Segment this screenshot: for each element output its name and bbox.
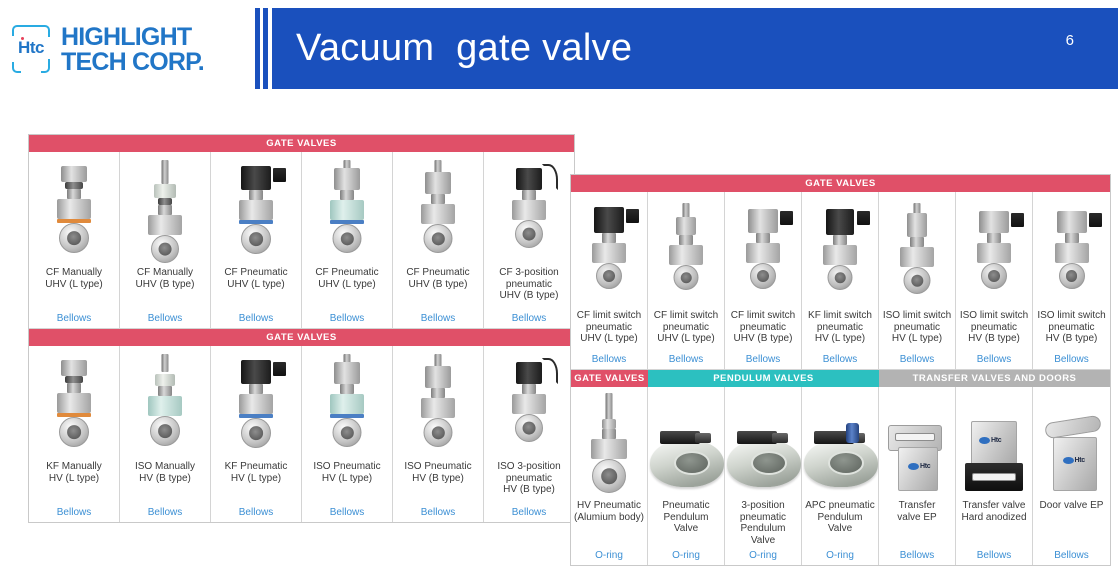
title-bar: Vacuum gate valve 6	[272, 8, 1118, 89]
htc-badge-icon: Htc	[1063, 457, 1085, 464]
product-cell[interactable]: CF Pneumatic UHV (L type)Bellows	[302, 152, 393, 329]
product-cell[interactable]: CF 3-position pneumatic UHV (B type)Bell…	[484, 152, 574, 329]
product-seal-type: Bellows	[57, 309, 91, 328]
catalog-table-left: GATE VALVESCF Manually UHV (L type)Bello…	[28, 134, 575, 523]
product-seal-type: Bellows	[512, 503, 546, 522]
product-seal-type: Bellows	[977, 546, 1011, 565]
product-label: Transfer valve EP	[895, 497, 938, 523]
product-image	[302, 346, 392, 458]
product-image: Htc	[879, 387, 955, 497]
product-seal-type: Bellows	[57, 503, 91, 522]
product-label: Pneumatic Pendulum Valve	[648, 497, 724, 535]
product-cell[interactable]: ISO Manually HV (B type)Bellows	[120, 346, 211, 522]
product-seal-type: Bellows	[512, 309, 546, 328]
product-image	[879, 192, 955, 307]
product-cell[interactable]: KF limit switch pneumatic HV (L type)Bel…	[802, 192, 879, 370]
product-label: Transfer valve Hard anodized	[959, 497, 1028, 523]
product-image	[211, 346, 301, 458]
product-row: CF limit switch pneumatic UHV (L type)Be…	[571, 192, 1110, 370]
product-image	[802, 192, 878, 307]
product-cell[interactable]: APC pneumatic Pendulum ValveO-ring	[802, 387, 879, 565]
product-image	[802, 387, 878, 497]
product-label: ISO limit switch pneumatic HV (B type)	[958, 307, 1030, 345]
valve-illustration	[1041, 203, 1103, 307]
product-image	[29, 152, 119, 264]
product-image	[120, 152, 210, 264]
valve-illustration	[809, 203, 871, 307]
valve-illustration	[225, 354, 287, 458]
product-seal-type: Bellows	[900, 546, 934, 565]
product-cell[interactable]: CF Pneumatic UHV (L type)Bellows	[211, 152, 302, 329]
product-cell[interactable]: KF Pneumatic HV (L type)Bellows	[211, 346, 302, 522]
transfer-valve-illustration: Htc	[884, 413, 950, 497]
product-label: APC pneumatic Pendulum Valve	[802, 497, 878, 535]
product-seal-type: Bellows	[1054, 350, 1088, 369]
product-seal-type: O-ring	[749, 546, 777, 565]
product-cell[interactable]: HtcTransfer valve Hard anodizedBellows	[956, 387, 1033, 565]
product-label: ISO Pneumatic HV (B type)	[402, 458, 473, 484]
logo-mark-text: Htc	[9, 37, 53, 59]
product-image	[648, 387, 724, 497]
product-label: KF Pneumatic HV (L type)	[223, 458, 290, 484]
product-label: CF limit switch pneumatic UHV (B type)	[729, 307, 797, 345]
product-label: CF Pneumatic UHV (L type)	[313, 264, 380, 290]
product-image	[1033, 192, 1110, 307]
product-label: CF Manually UHV (L type)	[43, 264, 104, 290]
pendulum-valve-illustration	[802, 423, 878, 497]
band-label: GATE VALVES	[571, 370, 648, 387]
band-label: GATE VALVES	[29, 329, 574, 346]
product-image	[393, 152, 483, 264]
product-image	[484, 346, 574, 458]
product-label: ISO 3-position pneumatic HV (B type)	[495, 458, 562, 496]
page-number: 6	[1066, 32, 1074, 49]
product-image	[571, 192, 647, 307]
valve-illustration	[578, 393, 640, 497]
product-cell[interactable]: CF limit switch pneumatic UHV (B type)Be…	[725, 192, 802, 370]
product-seal-type: Bellows	[900, 350, 934, 369]
product-image	[211, 152, 301, 264]
product-label: HV Pneumatic (Alumium body)	[572, 497, 646, 523]
section-band: GATE VALVES	[571, 175, 1110, 192]
product-image: Htc	[1033, 387, 1110, 497]
product-label: CF 3-position pneumatic UHV (B type)	[497, 264, 560, 302]
product-image	[956, 192, 1032, 307]
htc-badge-icon: Htc	[979, 437, 1001, 444]
product-label: CF limit switch pneumatic UHV (L type)	[652, 307, 720, 345]
product-seal-type: Bellows	[148, 503, 182, 522]
valve-illustration	[963, 203, 1025, 307]
product-label: CF limit switch pneumatic UHV (L type)	[575, 307, 643, 345]
product-label: CF Pneumatic UHV (B type)	[404, 264, 471, 290]
product-seal-type: O-ring	[826, 546, 854, 565]
product-seal-type: O-ring	[672, 546, 700, 565]
section-band: GATE VALVES	[29, 329, 574, 346]
product-label: 3-position pneumatic Pendulum Valve	[725, 497, 801, 546]
product-cell[interactable]: ISO Pneumatic HV (L type)Bellows	[302, 346, 393, 522]
valve-illustration	[407, 160, 469, 264]
valve-illustration	[316, 354, 378, 458]
product-image	[120, 346, 210, 458]
product-image	[571, 387, 647, 497]
product-label: Door valve EP	[1038, 497, 1106, 512]
product-seal-type: Bellows	[421, 309, 455, 328]
product-seal-type: Bellows	[421, 503, 455, 522]
product-image	[393, 346, 483, 458]
product-image	[484, 152, 574, 264]
product-cell[interactable]: ISO Pneumatic HV (B type)Bellows	[393, 346, 484, 522]
product-seal-type: Bellows	[592, 350, 626, 369]
band-label: PENDULUM VALVES	[648, 370, 879, 387]
product-seal-type: Bellows	[1054, 546, 1088, 565]
valve-illustration	[225, 160, 287, 264]
product-cell[interactable]: 3-position pneumatic Pendulum ValveO-rin…	[725, 387, 802, 565]
valve-illustration	[498, 354, 560, 458]
pendulum-valve-illustration	[725, 423, 801, 497]
valve-illustration	[578, 203, 640, 307]
pendulum-valve-illustration	[648, 423, 724, 497]
band-label: GATE VALVES	[571, 175, 1110, 192]
product-image	[725, 192, 801, 307]
product-seal-type: Bellows	[239, 309, 273, 328]
htc-badge-icon: Htc	[908, 463, 930, 470]
product-seal-type: Bellows	[148, 309, 182, 328]
valve-illustration	[316, 160, 378, 264]
product-cell[interactable]: HtcDoor valve EPBellows	[1033, 387, 1110, 565]
valve-illustration	[732, 203, 794, 307]
product-cell[interactable]: ISO limit switch pneumatic HV (B type)Be…	[1033, 192, 1110, 370]
page-header: Htc HIGHLIGHT TECH CORP. Vacuum gate val…	[0, 8, 1118, 89]
valve-illustration	[498, 160, 560, 264]
product-cell[interactable]: ISO limit switch pneumatic HV (L type)Be…	[879, 192, 956, 370]
product-seal-type: Bellows	[330, 503, 364, 522]
product-row: CF Manually UHV (L type)BellowsCF Manual…	[29, 152, 574, 329]
valve-illustration	[134, 354, 196, 458]
product-label: CF Pneumatic UHV (L type)	[222, 264, 289, 290]
product-seal-type: Bellows	[239, 503, 273, 522]
product-row: KF Manually HV (L type)BellowsISO Manual…	[29, 346, 574, 522]
product-label: ISO Manually HV (B type)	[133, 458, 197, 484]
page-title: Vacuum gate valve	[296, 27, 632, 70]
product-seal-type: Bellows	[977, 350, 1011, 369]
header-accent-bars	[255, 8, 272, 89]
product-cell[interactable]: CF limit switch pneumatic UHV (L type)Be…	[648, 192, 725, 370]
product-cell[interactable]: HtcTransfer valve EPBellows	[879, 387, 956, 565]
product-label: KF Manually HV (L type)	[44, 458, 104, 484]
valve-illustration	[886, 203, 948, 307]
product-seal-type: O-ring	[595, 546, 623, 565]
section-band: GATE VALVESPENDULUM VALVESTRANSFER VALVE…	[571, 370, 1110, 387]
product-label: ISO Pneumatic HV (L type)	[311, 458, 382, 484]
band-label: TRANSFER VALVES AND DOORS	[879, 370, 1110, 387]
logo-line-1: HIGHLIGHT	[61, 25, 204, 50]
product-image	[725, 387, 801, 497]
logo-line-2: TECH CORP.	[61, 50, 204, 75]
product-row: HV Pneumatic (Alumium body)O-ringPneumat…	[571, 387, 1110, 565]
product-seal-type: Bellows	[330, 309, 364, 328]
product-cell[interactable]: ISO limit switch pneumatic HV (B type)Be…	[956, 192, 1033, 370]
product-label: CF Manually UHV (B type)	[134, 264, 197, 290]
logo-wordmark: HIGHLIGHT TECH CORP.	[61, 23, 204, 75]
product-cell[interactable]: KF Manually HV (L type)Bellows	[29, 346, 120, 522]
product-cell[interactable]: HV Pneumatic (Alumium body)O-ring	[571, 387, 648, 565]
transfer-valve-illustration: Htc	[961, 413, 1027, 497]
valve-illustration	[407, 354, 469, 458]
catalog-table-right: GATE VALVESCF limit switch pneumatic UHV…	[570, 174, 1111, 566]
product-cell[interactable]: CF Pneumatic UHV (B type)Bellows	[393, 152, 484, 329]
product-cell[interactable]: CF Manually UHV (L type)Bellows	[29, 152, 120, 329]
valve-illustration	[134, 160, 196, 264]
section-band: GATE VALVES	[29, 135, 574, 152]
valve-illustration	[43, 160, 105, 264]
valve-illustration	[655, 203, 717, 307]
product-image	[648, 192, 724, 307]
product-image: Htc	[956, 387, 1032, 497]
htc-logo-icon: Htc	[8, 23, 54, 75]
product-seal-type: Bellows	[669, 350, 703, 369]
product-cell[interactable]: CF limit switch pneumatic UHV (L type)Be…	[571, 192, 648, 370]
product-cell[interactable]: Pneumatic Pendulum ValveO-ring	[648, 387, 725, 565]
product-seal-type: Bellows	[823, 350, 857, 369]
valve-illustration	[43, 354, 105, 458]
band-label: GATE VALVES	[29, 135, 574, 152]
product-cell[interactable]: ISO 3-position pneumatic HV (B type)Bell…	[484, 346, 574, 522]
product-label: ISO limit switch pneumatic HV (B type)	[1035, 307, 1107, 345]
product-image	[302, 152, 392, 264]
product-image	[29, 346, 119, 458]
transfer-valve-illustration: Htc	[1039, 413, 1105, 497]
product-seal-type: Bellows	[746, 350, 780, 369]
product-label: ISO limit switch pneumatic HV (L type)	[881, 307, 953, 345]
product-label: KF limit switch pneumatic HV (L type)	[806, 307, 874, 345]
company-logo: Htc HIGHLIGHT TECH CORP.	[0, 8, 255, 89]
product-cell[interactable]: CF Manually UHV (B type)Bellows	[120, 152, 211, 329]
